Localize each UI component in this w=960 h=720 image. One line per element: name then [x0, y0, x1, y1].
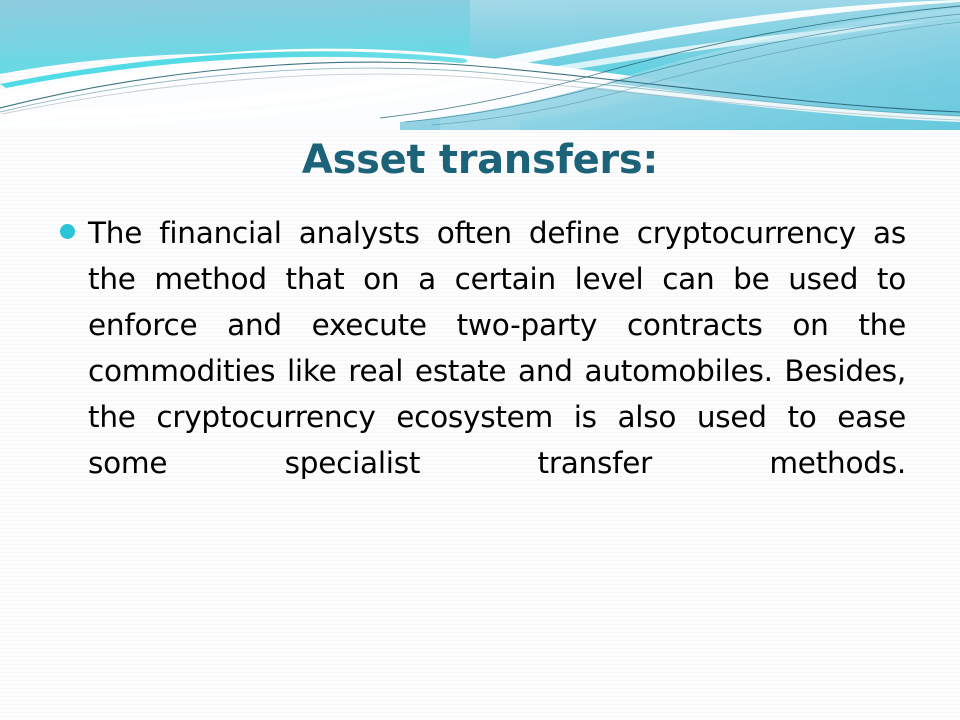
title-block: Asset transfers:	[0, 138, 960, 183]
wave-banner-decoration	[0, 0, 960, 130]
bullet-dot-icon	[60, 224, 75, 239]
page-title: Asset transfers:	[302, 138, 658, 183]
slide-body: The financial analysts often define cryp…	[54, 210, 906, 532]
presentation-slide: Asset transfers: The financial analysts …	[0, 0, 960, 720]
list-item: The financial analysts often define cryp…	[54, 210, 906, 532]
bullet-text: The financial analysts often define cryp…	[88, 210, 906, 532]
